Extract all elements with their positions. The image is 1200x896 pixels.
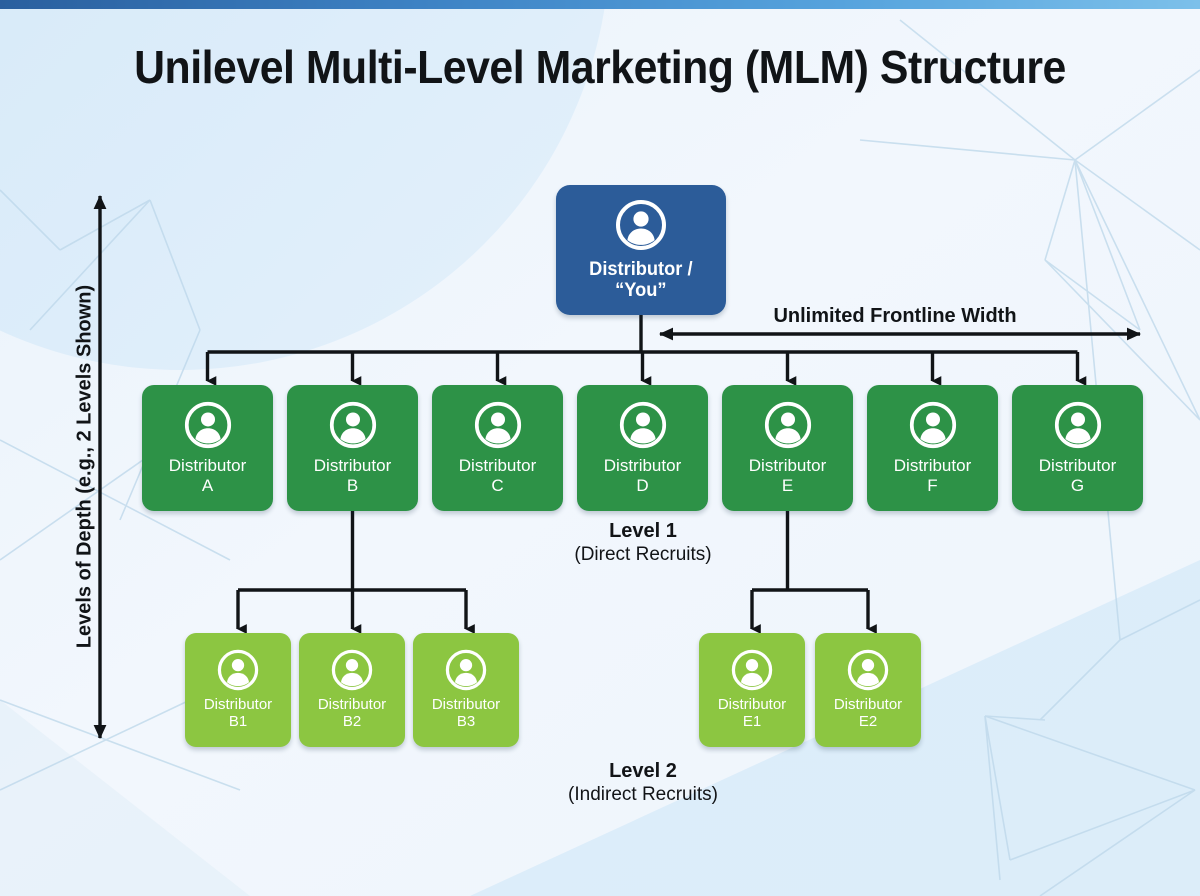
node-label: Distributor B3 — [432, 697, 500, 731]
node-label: Distributor G — [1039, 456, 1116, 494]
node-distributor-e1[interactable]: Distributor E1 — [699, 633, 805, 747]
node-distributor-e[interactable]: Distributor E — [722, 385, 853, 511]
person-icon — [1054, 401, 1102, 449]
node-label: Distributor A — [169, 456, 246, 494]
node-distributor-a[interactable]: Distributor A — [142, 385, 273, 511]
caption-level-2-subtitle: (Indirect Recruits) — [498, 783, 788, 806]
person-icon — [217, 649, 259, 691]
node-label: Distributor B — [314, 456, 391, 494]
node-distributor-b[interactable]: Distributor B — [287, 385, 418, 511]
node-label: Distributor E1 — [718, 697, 786, 731]
person-icon — [445, 649, 487, 691]
node-distributor-b2[interactable]: Distributor B2 — [299, 633, 405, 747]
person-icon — [847, 649, 889, 691]
node-label: Distributor B1 — [204, 697, 272, 731]
node-distributor-e2[interactable]: Distributor E2 — [815, 633, 921, 747]
caption-level-1-title: Level 1 — [498, 519, 788, 543]
person-icon — [909, 401, 957, 449]
person-icon — [331, 649, 373, 691]
caption-level-2-title: Level 2 — [498, 759, 788, 783]
node-label: Distributor E — [749, 456, 826, 494]
node-label: Distributor E2 — [834, 697, 902, 731]
page-title: Unilevel Multi-Level Marketing (MLM) Str… — [42, 40, 1158, 94]
levels-of-depth-label: Levels of Depth (e.g., 2 Levels Shown) — [74, 187, 97, 747]
node-label: Distributor D — [604, 456, 681, 494]
person-icon — [764, 401, 812, 449]
node-distributor-g[interactable]: Distributor G — [1012, 385, 1143, 511]
person-icon — [474, 401, 522, 449]
person-icon — [184, 401, 232, 449]
diagram-canvas: Unilevel Multi-Level Marketing (MLM) Str… — [0, 0, 1200, 896]
node-distributor-b3[interactable]: Distributor B3 — [413, 633, 519, 747]
node-distributor-b1[interactable]: Distributor B1 — [185, 633, 291, 747]
node-label: Distributor C — [459, 456, 536, 494]
node-root-distributor-you[interactable]: Distributor / “You” — [556, 185, 726, 315]
person-icon — [329, 401, 377, 449]
caption-level-1-subtitle: (Direct Recruits) — [498, 543, 788, 566]
person-icon — [615, 199, 667, 251]
caption-level-2: Level 2 (Indirect Recruits) — [498, 759, 788, 807]
node-label: Distributor F — [894, 456, 971, 494]
person-icon — [731, 649, 773, 691]
node-distributor-c[interactable]: Distributor C — [432, 385, 563, 511]
node-label: Distributor / “You” — [589, 259, 692, 302]
node-label: Distributor B2 — [318, 697, 386, 731]
caption-level-1: Level 1 (Direct Recruits) — [498, 519, 788, 567]
node-distributor-d[interactable]: Distributor D — [577, 385, 708, 511]
person-icon — [619, 401, 667, 449]
node-distributor-f[interactable]: Distributor F — [867, 385, 998, 511]
top-accent-bar — [0, 0, 1200, 9]
